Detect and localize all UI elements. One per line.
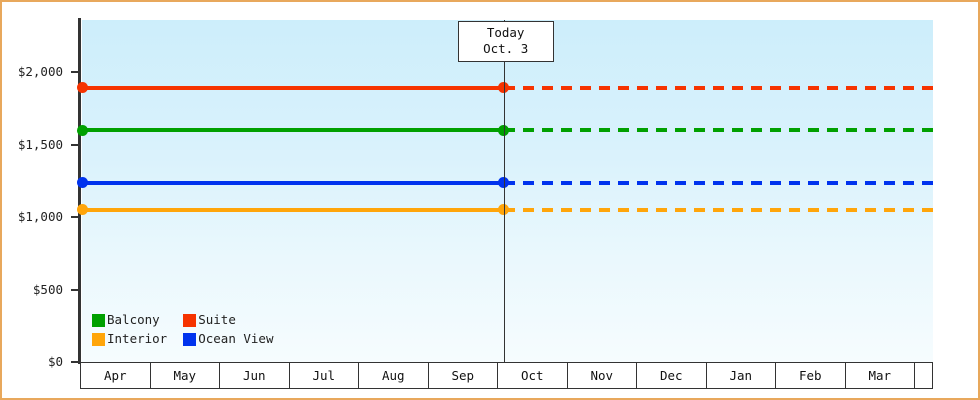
x-axis-month-sep[interactable]: Sep	[429, 363, 499, 388]
legend-swatch-icon	[92, 314, 105, 327]
legend-entry-ocean-view[interactable]: Ocean View	[183, 332, 273, 346]
y-axis-tick	[71, 361, 78, 363]
y-axis-tick-label: $1,500	[18, 137, 63, 152]
x-axis-trailing-cell	[915, 363, 933, 388]
y-axis-tick-label: $500	[33, 282, 63, 297]
legend-entry-balcony[interactable]: Balcony	[92, 313, 167, 327]
legend-entry-suite[interactable]: Suite	[183, 313, 273, 327]
series-line-past-suite	[79, 86, 504, 90]
y-axis-tick-label: $0	[48, 354, 63, 369]
y-axis-tick	[71, 71, 78, 73]
series-start-marker-balcony	[77, 125, 88, 136]
legend-swatch-icon	[183, 314, 196, 327]
today-label-line2: Oct. 3	[469, 41, 543, 57]
series-line-past-interior	[79, 208, 504, 212]
chart-legend: BalconySuiteInteriorOcean View	[92, 313, 273, 346]
y-axis-tick	[71, 216, 78, 218]
y-axis-tick-label: $2,000	[18, 64, 63, 79]
today-annotation-box: Today Oct. 3	[458, 21, 554, 62]
x-axis-month-dec[interactable]: Dec	[637, 363, 707, 388]
series-start-marker-interior	[77, 204, 88, 215]
x-axis-month-mar[interactable]: Mar	[846, 363, 916, 388]
series-start-marker-suite	[77, 82, 88, 93]
x-axis-month-table: AprMayJunJulAugSepOctNovDecJanFebMar	[80, 362, 933, 389]
legend-label: Balcony	[107, 313, 160, 327]
x-axis-month-feb[interactable]: Feb	[776, 363, 846, 388]
x-axis-month-jul[interactable]: Jul	[290, 363, 360, 388]
series-line-past-balcony	[79, 128, 504, 132]
legend-label: Interior	[107, 332, 167, 346]
y-axis-line	[78, 18, 81, 364]
x-axis-month-oct[interactable]: Oct	[498, 363, 568, 388]
plot-area	[82, 20, 933, 362]
legend-label: Suite	[198, 313, 236, 327]
series-line-past-ocean-view	[79, 181, 504, 185]
y-axis-tick-label: $1,000	[18, 209, 63, 224]
series-line-future-suite	[504, 86, 933, 90]
today-vertical-line	[504, 20, 505, 362]
series-line-future-balcony	[504, 128, 933, 132]
chart-frame: $2,000$1,500$1,000$500$0 Today Oct. 3 Ba…	[0, 0, 980, 400]
y-axis-tick	[71, 144, 78, 146]
series-start-marker-ocean-view	[77, 177, 88, 188]
x-axis-month-jan[interactable]: Jan	[707, 363, 777, 388]
x-axis-month-apr[interactable]: Apr	[81, 363, 151, 388]
x-axis-month-aug[interactable]: Aug	[359, 363, 429, 388]
legend-entry-interior[interactable]: Interior	[92, 332, 167, 346]
today-label-line1: Today	[469, 25, 543, 41]
legend-swatch-icon	[183, 333, 196, 346]
x-axis-month-jun[interactable]: Jun	[220, 363, 290, 388]
x-axis-month-nov[interactable]: Nov	[568, 363, 638, 388]
y-axis-tick	[71, 289, 78, 291]
x-axis-month-may[interactable]: May	[151, 363, 221, 388]
series-line-future-ocean-view	[504, 181, 933, 185]
legend-swatch-icon	[92, 333, 105, 346]
legend-label: Ocean View	[198, 332, 273, 346]
series-line-future-interior	[504, 208, 933, 212]
